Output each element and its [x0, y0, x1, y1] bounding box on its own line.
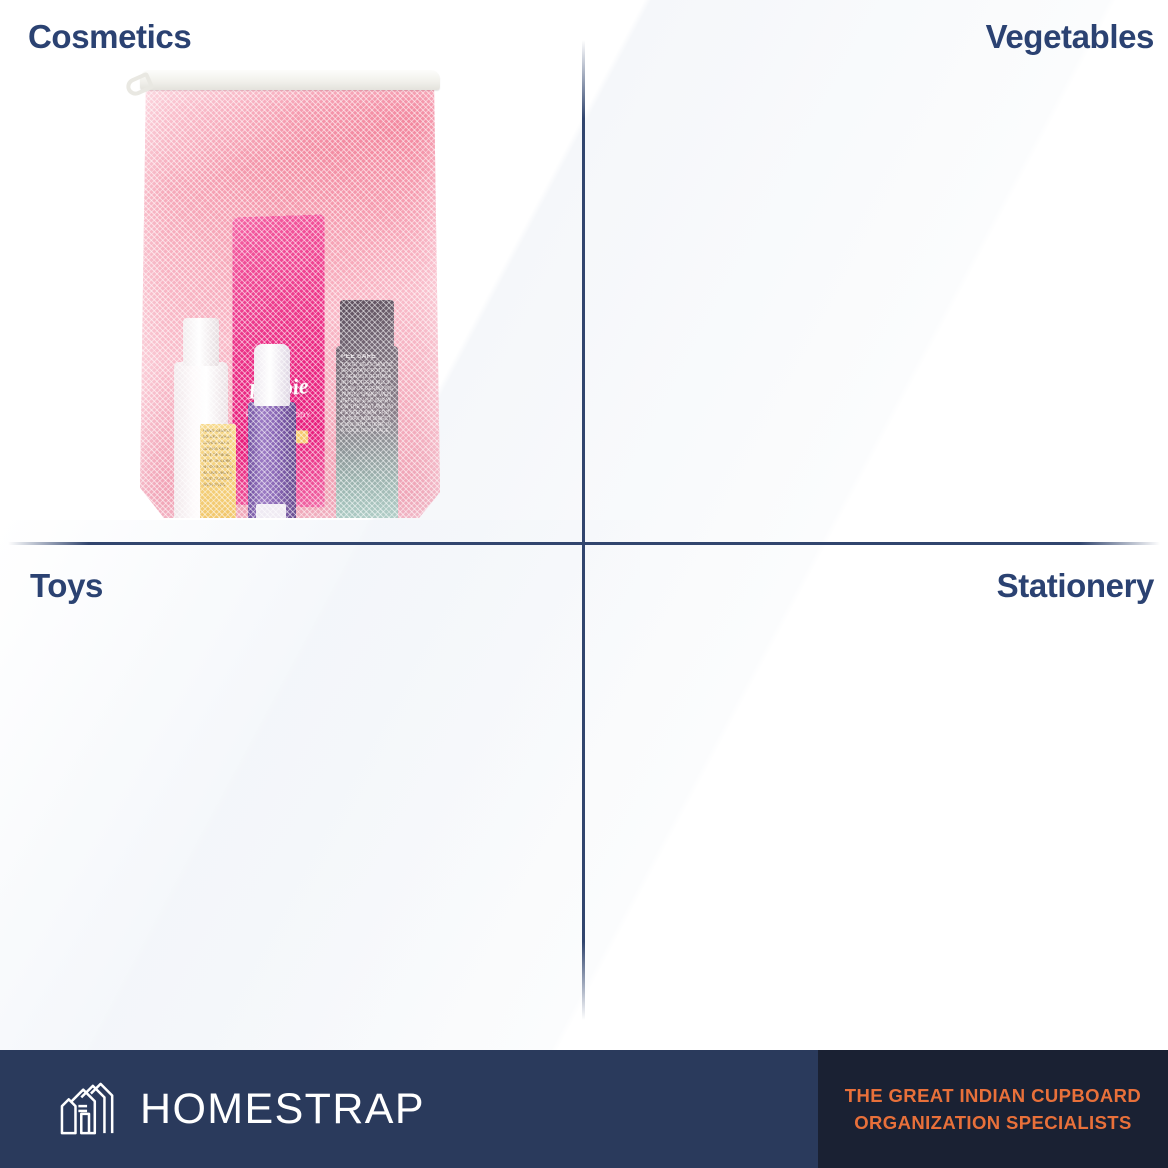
- infographic-page: Cosmetics Barbie PERFUMED BODY SPRAY Pin…: [0, 0, 1168, 1168]
- footer-bar: HOMESTRAP THE GREAT INDIAN CUPBOARD ORGA…: [0, 1050, 1168, 1168]
- clear-bottle-yellow-label: HAND SANITIZER GEL 70% ALCOHOL KILLS GER…: [200, 424, 236, 522]
- brand-name-text: HOMESTRAP: [140, 1085, 425, 1134]
- quadrant-vegetables: Vegetables: [585, 0, 1168, 542]
- aerosol-cap: [340, 300, 394, 350]
- aerosol-label-text: PEE SAFE TOILET SEAT SANITIZER SPRAY PRO…: [341, 354, 393, 474]
- product-aerosol-can: PEE SAFE TOILET SEAT SANITIZER SPRAY PRO…: [336, 346, 398, 532]
- quadrant-grid: Cosmetics Barbie PERFUMED BODY SPRAY Pin…: [0, 0, 1168, 1050]
- aerosol-label-title: PEE SAFE: [341, 354, 393, 360]
- quadrant-toys: Toys: [0, 545, 582, 1050]
- zipper-track-pink: [140, 70, 440, 90]
- clear-bottle-label-text: HAND SANITIZER GEL 70% ALCOHOL KILLS GER…: [200, 424, 236, 492]
- footer-brand-block: HOMESTRAP: [0, 1050, 818, 1168]
- quadrant-label-stationery: Stationery: [997, 567, 1154, 605]
- product-purple-spray: [248, 402, 296, 532]
- aerosol-label-body: TOILET SEAT SANITIZER SPRAY PROTECTS AGA…: [341, 362, 393, 434]
- quadrant-label-toys: Toys: [30, 567, 103, 605]
- footer-tagline-panel: THE GREAT INDIAN CUPBOARD ORGANIZATION S…: [818, 1050, 1168, 1168]
- mesh-bag-pink: Barbie PERFUMED BODY SPRAY Pink Glam PEE…: [140, 70, 440, 518]
- tagline-line-2: ORGANIZATION SPECIALISTS: [854, 1112, 1132, 1134]
- tagline-line-1: THE GREAT INDIAN CUPBOARD: [845, 1085, 1141, 1107]
- quadrant-stationery: Stationery: [585, 545, 1168, 1050]
- purple-spray-label-strip: [256, 504, 286, 522]
- pink-bag-body: Barbie PERFUMED BODY SPRAY Pink Glam PEE…: [140, 84, 440, 518]
- product-clear-bottle: HAND SANITIZER GEL 70% ALCOHOL KILLS GER…: [174, 362, 228, 530]
- nested-house-logo-icon: [58, 1081, 120, 1137]
- quadrant-label-cosmetics: Cosmetics: [28, 18, 191, 56]
- quadrant-cosmetics: Cosmetics Barbie PERFUMED BODY SPRAY Pin…: [0, 0, 582, 542]
- purple-spray-pump: [254, 344, 290, 406]
- quadrant-label-vegetables: Vegetables: [986, 18, 1154, 56]
- clear-bottle-cap: [183, 318, 219, 366]
